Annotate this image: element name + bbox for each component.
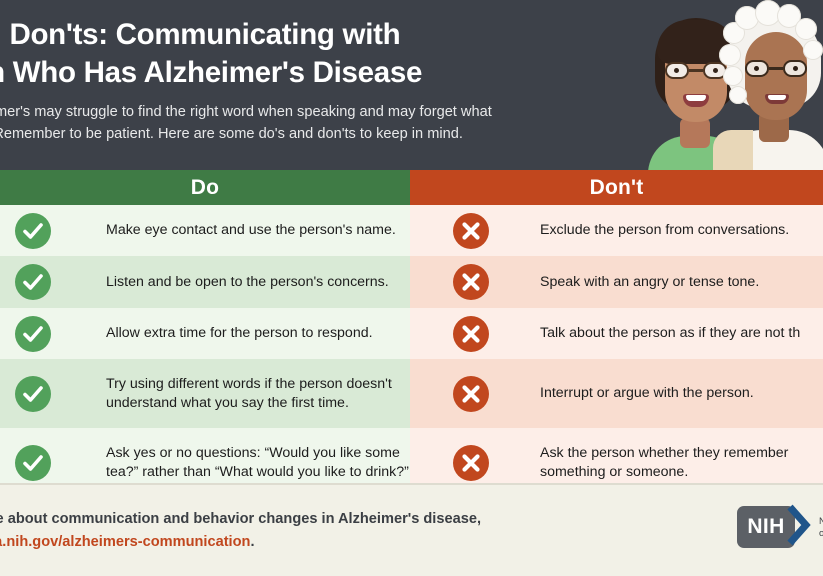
nih-logo: NIH Natio on A bbox=[737, 506, 823, 548]
eyeglasses-icon bbox=[743, 60, 809, 77]
teeth bbox=[686, 95, 706, 101]
page-title-line-1: s and Don'ts: Communicating with bbox=[0, 16, 626, 54]
dont-text: Ask the person whether they remember som… bbox=[540, 444, 823, 482]
do-cell: Listen and be open to the person's conce… bbox=[0, 256, 410, 308]
check-circle-icon bbox=[34, 213, 96, 249]
do-text: Try using different words if the person … bbox=[106, 375, 410, 413]
dos-and-donts-table: Do Don't Make eye contact and use the pe… bbox=[0, 170, 823, 483]
dont-text: Interrupt or argue with the person. bbox=[540, 384, 823, 403]
do-cell: Make eye contact and use the person's na… bbox=[0, 205, 410, 256]
footer-link-line: ww.nia.nih.gov/alzheimers-communication. bbox=[0, 531, 715, 554]
x-circle-icon bbox=[444, 213, 506, 249]
glasses-bridge bbox=[689, 69, 703, 72]
table-row: Listen and be open to the person's conce… bbox=[0, 256, 823, 308]
hair-curl bbox=[803, 40, 823, 60]
table-row: Try using different words if the person … bbox=[0, 359, 823, 428]
page-subtitle-line-2: re saying. Remember to be patient. Here … bbox=[0, 123, 626, 145]
check-circle-icon bbox=[34, 376, 96, 412]
glasses-bridge bbox=[769, 67, 783, 70]
cream-collar bbox=[713, 130, 753, 170]
two-women-illustration bbox=[643, 0, 823, 170]
page-title-line-2: erson Who Has Alzheimer's Disease bbox=[0, 54, 626, 92]
x-circle-icon bbox=[444, 445, 506, 481]
older-woman-illustration bbox=[721, 8, 823, 170]
right-eye bbox=[713, 68, 718, 73]
x-circle-icon bbox=[444, 376, 506, 412]
do-text: Allow extra time for the person to respo… bbox=[106, 324, 410, 343]
page-subtitle-line-1: with Alzheimer's may struggle to find th… bbox=[0, 101, 626, 123]
hair-curl bbox=[729, 86, 747, 104]
footer-description: n more about communication and behavior … bbox=[0, 508, 715, 531]
table-header-row: Do Don't bbox=[0, 170, 823, 205]
chevron-right-icon bbox=[786, 504, 812, 551]
table-body: Make eye contact and use the person's na… bbox=[0, 205, 823, 498]
table-row: Allow extra time for the person to respo… bbox=[0, 308, 823, 359]
check-circle-icon bbox=[34, 445, 96, 481]
hair-curl bbox=[723, 66, 743, 86]
dont-cell: Exclude the person from conversations. bbox=[410, 205, 823, 256]
footer-text-block: n more about communication and behavior … bbox=[0, 508, 715, 554]
dont-text: Talk about the person as if they are not… bbox=[540, 324, 823, 343]
nia-communication-link[interactable]: ww.nia.nih.gov/alzheimers-communication bbox=[0, 534, 250, 550]
footer-period: . bbox=[250, 534, 254, 550]
left-eye bbox=[754, 66, 759, 71]
check-circle-icon bbox=[34, 316, 96, 352]
header-banner: s and Don'ts: Communicating with erson W… bbox=[0, 0, 823, 170]
nih-institute-name: Natio on A bbox=[819, 515, 823, 539]
dont-cell: Speak with an angry or tense tone. bbox=[410, 256, 823, 308]
dont-text: Exclude the person from conversations. bbox=[540, 221, 823, 240]
x-circle-icon bbox=[444, 264, 506, 300]
right-eye bbox=[793, 66, 798, 71]
infographic-page: s and Don'ts: Communicating with erson W… bbox=[0, 0, 823, 576]
table-row: Make eye contact and use the person's na… bbox=[0, 205, 823, 256]
neck bbox=[680, 118, 710, 148]
nih-name-line-2: on A bbox=[819, 527, 823, 539]
x-circle-icon bbox=[444, 316, 506, 352]
left-eye bbox=[674, 68, 679, 73]
column-header-dont: Don't bbox=[410, 170, 823, 205]
dont-text: Speak with an angry or tense tone. bbox=[540, 273, 823, 292]
dont-cell: Talk about the person as if they are not… bbox=[410, 308, 823, 359]
teeth bbox=[768, 95, 786, 100]
check-circle-icon bbox=[34, 264, 96, 300]
footer-bar: n more about communication and behavior … bbox=[0, 483, 823, 576]
header-text-block: s and Don'ts: Communicating with erson W… bbox=[0, 16, 626, 145]
nih-name-line-1: Natio bbox=[819, 515, 823, 527]
eyeglasses-icon bbox=[663, 62, 729, 79]
do-text: Make eye contact and use the person's na… bbox=[106, 221, 410, 240]
do-text: Ask yes or no questions: “Would you like… bbox=[106, 444, 410, 482]
hair-curl bbox=[795, 18, 817, 40]
do-text: Listen and be open to the person's conce… bbox=[106, 273, 410, 292]
do-cell: Allow extra time for the person to respo… bbox=[0, 308, 410, 359]
column-header-do: Do bbox=[0, 170, 410, 205]
dont-cell: Interrupt or argue with the person. bbox=[410, 359, 823, 428]
hair-curl bbox=[719, 44, 741, 66]
do-cell: Try using different words if the person … bbox=[0, 359, 410, 428]
